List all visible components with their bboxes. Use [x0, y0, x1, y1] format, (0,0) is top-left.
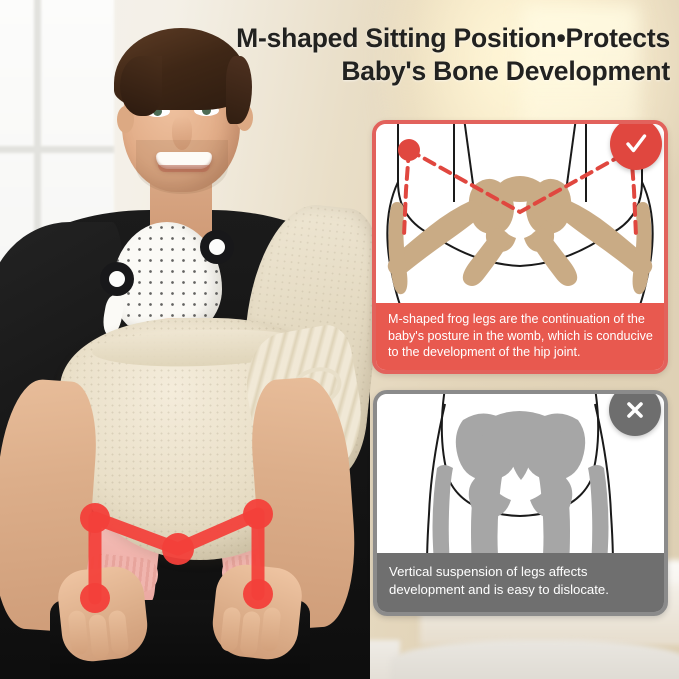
hat-ear-left-icon [100, 262, 134, 296]
right-hand [209, 562, 304, 662]
table [390, 640, 679, 679]
caption-correct: M-shaped frog legs are the continuation … [376, 303, 664, 370]
hat-ear-right-icon [200, 230, 234, 264]
card-correct-posture: M-shaped frog legs are the continuation … [372, 120, 668, 374]
title-line-2: Baby's Bone Development [236, 55, 670, 88]
card-incorrect-posture: Vertical suspension of legs affects deve… [373, 390, 668, 616]
left-hand [55, 564, 150, 664]
adult-figure [0, 0, 360, 679]
title-line-1: M-shaped Sitting Position•Protects [236, 22, 670, 55]
check-icon [610, 120, 662, 170]
smile [156, 152, 212, 169]
caption-incorrect: Vertical suspension of legs affects deve… [377, 553, 664, 612]
product-infographic: M-shaped Sitting Position•Protects Baby'… [0, 0, 679, 679]
nose [172, 116, 192, 150]
page-title: M-shaped Sitting Position•Protects Baby'… [236, 22, 670, 88]
diagram-marker-left [398, 139, 420, 161]
